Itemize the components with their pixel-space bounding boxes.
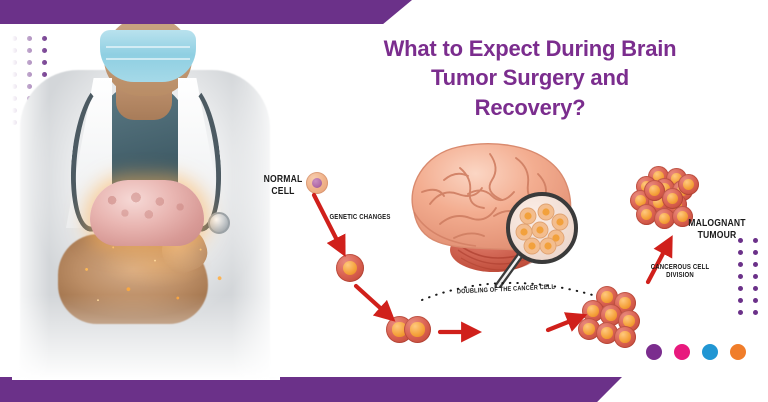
brain-illustration xyxy=(398,138,578,288)
label-cancerous-cell-division: CANCEROUS CELL DIVISION xyxy=(649,264,711,281)
accent-dot-purple xyxy=(646,344,662,360)
normal-cell-icon xyxy=(306,172,328,194)
accent-dot-row xyxy=(646,344,746,360)
arrow-cluster-approach xyxy=(548,318,578,330)
mutated-cell-icon xyxy=(336,254,364,282)
decorative-dot xyxy=(753,298,758,303)
accent-dot-magenta xyxy=(674,344,690,360)
decorative-dot xyxy=(738,274,743,279)
label-malignant-tumour: MALOGNANT TUMOUR xyxy=(683,218,750,242)
magnifier-lens xyxy=(508,194,576,262)
label-genetic-changes: GENETIC CHANGES xyxy=(326,214,395,222)
decorative-dot xyxy=(738,286,743,291)
cluster-cell xyxy=(614,326,636,348)
doubled-cell-icon-b xyxy=(404,316,431,343)
title-line-1: What to Expect During Brain xyxy=(330,34,730,63)
decorative-dot xyxy=(738,262,743,267)
label-normal-cell: NORMAL CELL xyxy=(260,174,306,198)
decorative-dot xyxy=(738,250,743,255)
title-line-3: Recovery? xyxy=(330,93,730,122)
decorative-dot xyxy=(753,286,758,291)
banner-root: What to Expect During Brain Tumor Surger… xyxy=(0,0,768,402)
surgical-mask-icon xyxy=(100,30,196,82)
decorative-dot xyxy=(738,310,743,315)
decorative-dot xyxy=(753,310,758,315)
decorative-dot xyxy=(753,274,758,279)
title-line-2: Tumor Surgery and xyxy=(330,63,730,92)
bottom-purple-bar xyxy=(0,377,622,402)
normal-cell-nucleus xyxy=(312,178,323,189)
decorative-dot xyxy=(738,298,743,303)
doctor-photo xyxy=(12,24,280,380)
decorative-dot xyxy=(753,250,758,255)
doubled-cell-nucleus-b xyxy=(410,322,424,336)
decorative-dot xyxy=(753,262,758,267)
glowing-brain-icon xyxy=(90,180,204,246)
accent-dot-orange xyxy=(730,344,746,360)
cell-cluster-icon xyxy=(578,286,640,342)
decorative-dot xyxy=(753,238,758,243)
top-purple-bar xyxy=(0,0,412,24)
accent-dot-blue xyxy=(702,344,718,360)
tumour-cell xyxy=(662,188,683,209)
page-title: What to Expect During Brain Tumor Surger… xyxy=(330,34,730,122)
decorative-dot-grid-right xyxy=(738,238,768,315)
mutated-cell-nucleus xyxy=(343,261,358,276)
arrow-mutated-to-doubled xyxy=(356,286,388,315)
